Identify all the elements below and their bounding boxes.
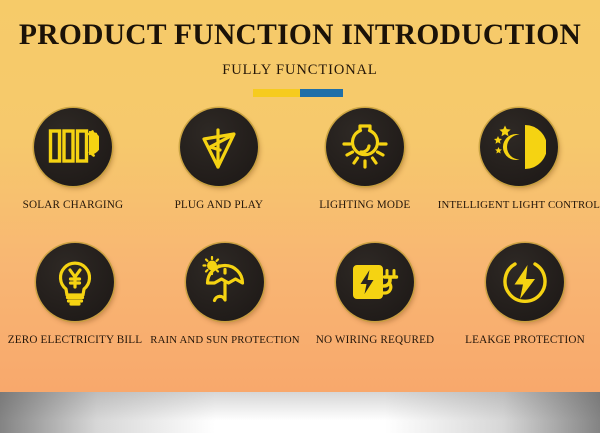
divider-segment-yellow <box>253 89 300 97</box>
feature-label: LIGHTING MODE <box>319 199 410 211</box>
feature-item-intelligent-light-control: INTELLIGENT LIGHT CONTROL <box>438 108 600 211</box>
light-bulb-rays-icon <box>339 122 391 172</box>
page-bottom-strip <box>0 392 600 433</box>
feature-item-no-wiring-requred: NO WIRING REQURED <box>300 243 450 346</box>
divider-segment-blue <box>300 89 343 97</box>
feature-item-lighting-mode: LIGHTING MODE <box>292 108 438 211</box>
feature-item-leakge-protection: LEAKGE PROTECTION <box>450 243 600 346</box>
feature-label: RAIN AND SUN PROTECTION <box>150 334 300 346</box>
bolt-in-circle-icon <box>500 257 550 307</box>
feature-item-zero-electricity-bill: ZERO ELECTRICITY BILL <box>0 243 150 346</box>
feature-poster-panel: PRODUCT FUNCTION INTRODUCTION FULLY FUNC… <box>0 0 600 392</box>
feature-row-2: ZERO ELECTRICITY BILL <box>0 243 600 346</box>
feature-badge <box>180 108 258 186</box>
strip-right-shadow <box>385 392 600 433</box>
solar-panel-sun-icon <box>47 125 99 169</box>
strip-left-shadow <box>0 392 215 433</box>
feature-badge <box>186 243 264 321</box>
feature-badge <box>336 243 414 321</box>
bulb-yen-icon <box>53 256 97 308</box>
feature-label: INTELLIGENT LIGHT CONTROL <box>438 199 600 211</box>
title-divider-bar <box>253 89 343 97</box>
poster-page: PRODUCT FUNCTION INTRODUCTION FULLY FUNC… <box>0 0 600 433</box>
feature-label: PLUG AND PLAY <box>175 199 264 211</box>
feature-label: ZERO ELECTRICITY BILL <box>8 334 142 346</box>
feature-item-rain-and-sun-protection: RAIN AND SUN PROTECTION <box>150 243 300 346</box>
feature-label: NO WIRING REQURED <box>316 334 435 346</box>
feature-badge <box>326 108 404 186</box>
umbrella-sun-icon <box>198 256 252 308</box>
feature-badge <box>36 243 114 321</box>
feature-label: SOLAR CHARGING <box>23 199 124 211</box>
page-title: PRODUCT FUNCTION INTRODUCTION <box>0 19 600 52</box>
feature-badge <box>480 108 558 186</box>
feature-badge <box>34 108 112 186</box>
plug-icon <box>196 122 242 172</box>
feature-badge <box>486 243 564 321</box>
moon-stars-half-sun-icon <box>492 122 546 172</box>
battery-bolt-plug-icon <box>349 257 401 307</box>
page-subtitle: FULLY FUNCTIONAL <box>0 62 600 79</box>
feature-label: LEAKGE PROTECTION <box>465 334 585 346</box>
feature-item-solar-charging: SOLAR CHARGING <box>0 108 146 211</box>
feature-item-plug-and-play: PLUG AND PLAY <box>146 108 292 211</box>
feature-row-1: SOLAR CHARGING PLUG AND PLAY <box>0 108 600 211</box>
